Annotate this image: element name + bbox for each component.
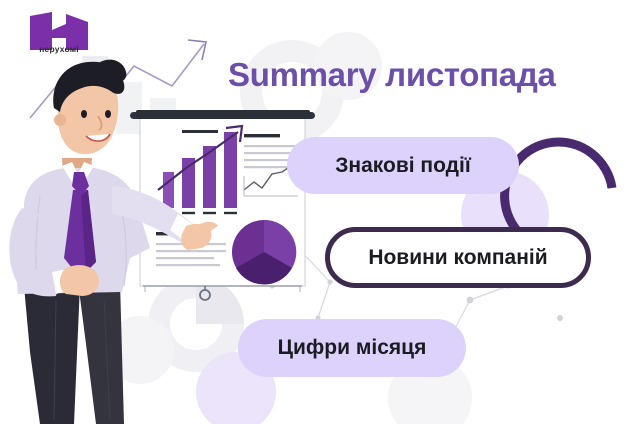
topic-pill-label: Новини компаній	[368, 246, 547, 270]
person-ear	[54, 114, 66, 126]
person-leg-front	[24, 284, 80, 424]
topic-pill-label: Цифри місяця	[278, 336, 427, 360]
person-leg-back	[78, 282, 124, 424]
topic-pill-tsyfry-misyatsya[interactable]: Цифри місяця	[238, 319, 466, 377]
board-pie-chart	[232, 220, 296, 285]
person-eye-right	[105, 110, 111, 118]
person-hand-lower	[60, 265, 99, 296]
topic-pill-znakovi-podii[interactable]: Знакові події	[287, 137, 519, 194]
topic-pill-label: Знакові події	[335, 154, 470, 178]
board-top-rail	[136, 110, 310, 119]
poster-canvas: нерухомі	[0, 0, 636, 424]
board-pull-ring	[200, 290, 210, 300]
person-eye-left	[81, 110, 87, 118]
page-title: Summary листопада	[228, 56, 628, 94]
topic-pill-novyny-kompaniy[interactable]: Новини компаній	[325, 227, 591, 288]
